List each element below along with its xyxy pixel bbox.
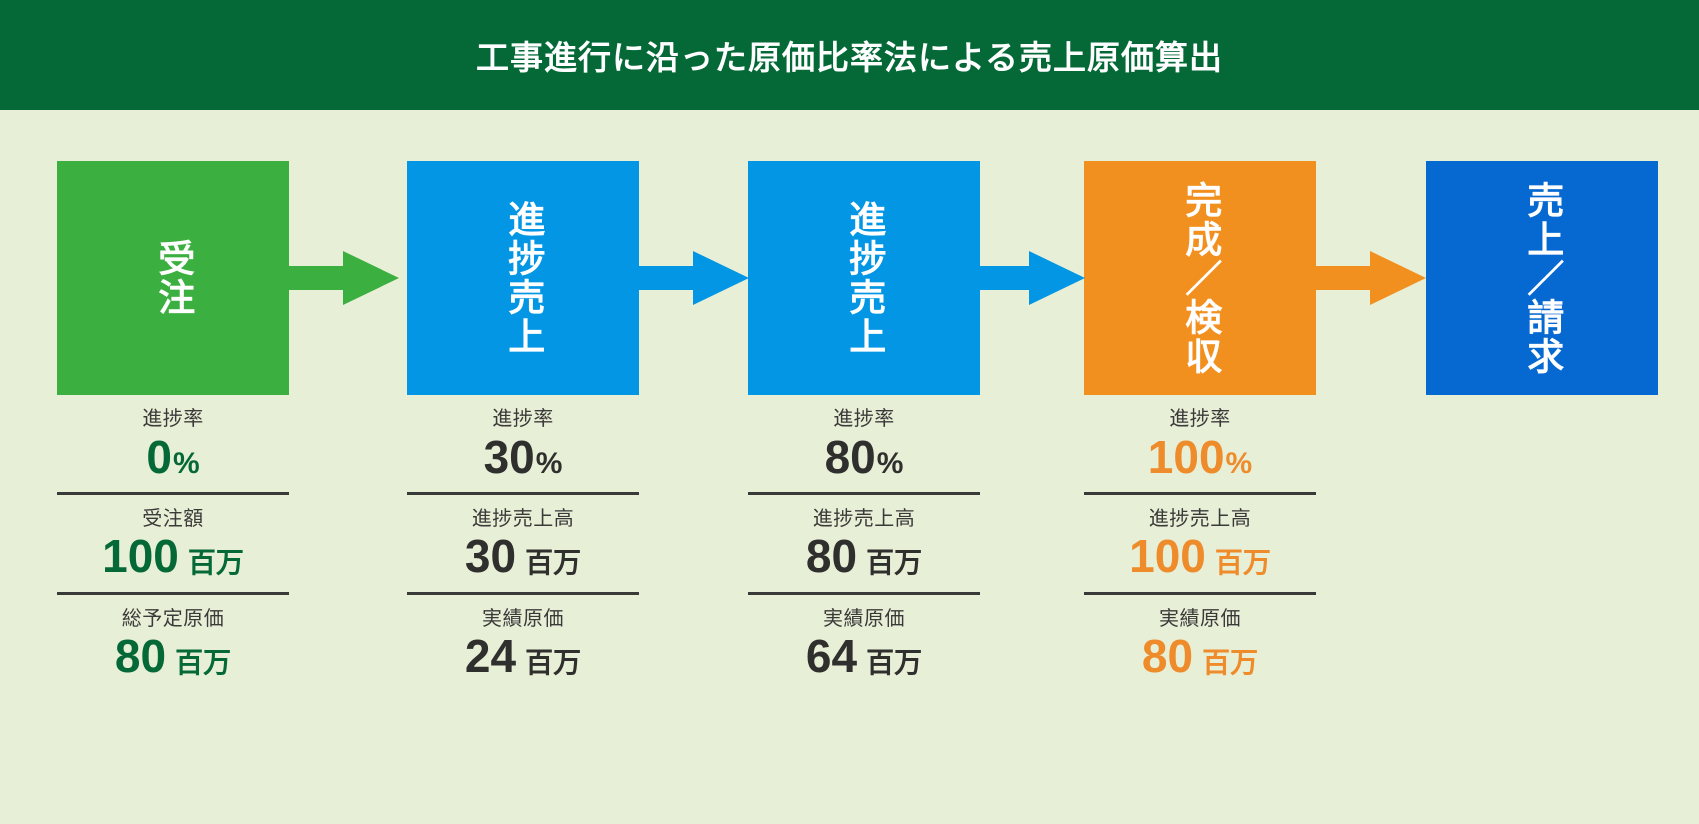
metrics-column-1: 進捗率 0% 受注額 100百万 総予定原価 80百万 [57,395,289,680]
progress-rate-value: 80 [825,433,876,481]
stage-label-1: 受注 [152,239,193,317]
sales-value: 100 [1129,532,1206,580]
cost-label: 総予定原価 [57,595,289,631]
sales-unit: 百万 [1215,548,1271,577]
cost-cell: 総予定原価 80百万 [57,595,289,680]
stage-label-4: 完成／検収 [1179,181,1220,376]
cost-unit: 百万 [866,648,922,677]
sales-value: 30 [465,532,516,580]
sales-value: 100 [102,532,179,580]
stage-box-2[interactable]: 進捗売上 [407,161,639,395]
stage-box-4[interactable]: 完成／検収 [1084,161,1316,395]
metrics-column-2: 進捗率 30% 進捗売上高 30百万 実績原価 24百万 [407,395,639,680]
sales-cell: 受注額 100百万 [57,495,289,580]
cost-value: 24 [465,632,516,680]
cost-unit: 百万 [175,648,231,677]
sales-value: 80 [806,532,857,580]
stage-box-3[interactable]: 進捗売上 [748,161,980,395]
stage-label-5: 売上／請求 [1521,181,1562,376]
cost-unit: 百万 [525,648,581,677]
progress-rate-label: 進捗率 [407,395,639,431]
progress-rate-unit: % [877,448,904,480]
progress-rate-cell: 進捗率 80% [748,395,980,481]
stage-label-2: 進捗売上 [502,200,543,356]
sales-unit: 百万 [188,548,244,577]
sales-cell: 進捗売上高 80百万 [748,495,980,580]
sales-cell: 進捗売上高 100百万 [1084,495,1316,580]
progress-rate-label: 進捗率 [748,395,980,431]
arrow-icon-4 [1316,161,1426,395]
sales-label: 受注額 [57,495,289,531]
cost-value: 64 [806,632,857,680]
arrow-icon-3 [980,161,1085,395]
sales-unit: 百万 [866,548,922,577]
diagram-canvas: 工事進行に沿った原価比率法による売上原価算出 受注 進捗売上 進捗売上 完成／検… [0,0,1699,824]
progress-rate-cell: 進捗率 100% [1084,395,1316,481]
progress-rate-unit: % [536,448,563,480]
progress-rate-cell: 進捗率 0% [57,395,289,481]
arrow-icon-1 [289,161,399,395]
cost-value: 80 [1142,632,1193,680]
cost-cell: 実績原価 64百万 [748,595,980,680]
header-banner: 工事進行に沿った原価比率法による売上原価算出 [0,0,1699,110]
arrow-icon-2 [639,161,749,395]
cost-cell: 実績原価 24百万 [407,595,639,680]
progress-rate-unit: % [173,448,200,480]
progress-rate-label: 進捗率 [57,395,289,431]
progress-rate-value: 30 [484,433,535,481]
progress-rate-cell: 進捗率 30% [407,395,639,481]
stage-box-1[interactable]: 受注 [57,161,289,395]
sales-cell: 進捗売上高 30百万 [407,495,639,580]
progress-rate-label: 進捗率 [1084,395,1316,431]
cost-label: 実績原価 [1084,595,1316,631]
sales-label: 進捗売上高 [748,495,980,531]
cost-unit: 百万 [1202,648,1258,677]
progress-rate-value: 0 [146,433,172,481]
page-title: 工事進行に沿った原価比率法による売上原価算出 [476,31,1223,79]
process-flow: 受注 進捗売上 進捗売上 完成／検収 売上／請求 [0,161,1699,395]
cost-value: 80 [115,632,166,680]
stage-label-3: 進捗売上 [843,200,884,356]
progress-rate-unit: % [1226,448,1253,480]
sales-label: 進捗売上高 [1084,495,1316,531]
sales-label: 進捗売上高 [407,495,639,531]
sales-unit: 百万 [525,548,581,577]
metrics-column-4: 進捗率 100% 進捗売上高 100百万 実績原価 80百万 [1084,395,1316,680]
metrics-column-3: 進捗率 80% 進捗売上高 80百万 実績原価 64百万 [748,395,980,680]
stage-box-5[interactable]: 売上／請求 [1426,161,1658,395]
progress-rate-value: 100 [1148,433,1225,481]
cost-label: 実績原価 [748,595,980,631]
cost-cell: 実績原価 80百万 [1084,595,1316,680]
cost-label: 実績原価 [407,595,639,631]
